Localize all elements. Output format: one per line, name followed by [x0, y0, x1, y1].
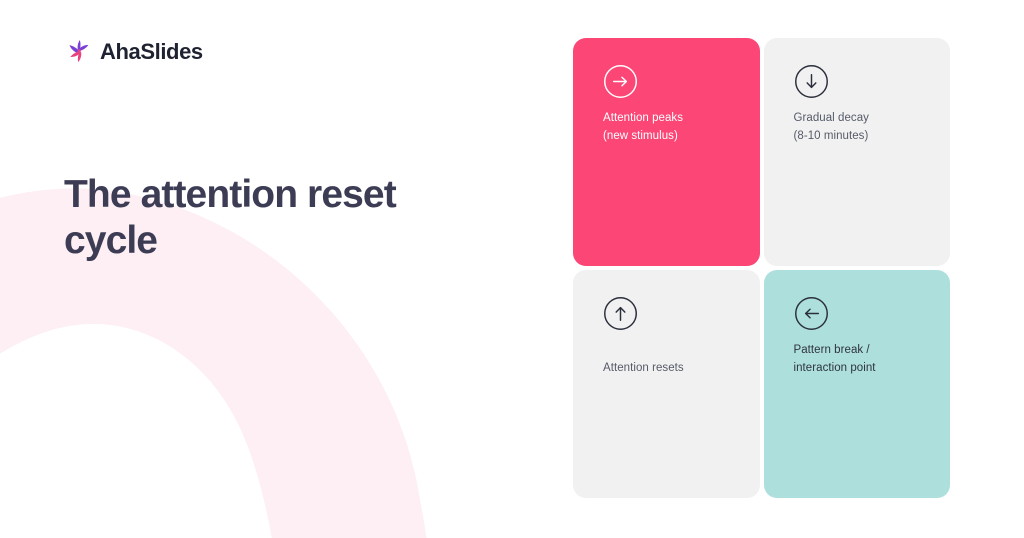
card-label: Gradual decay (8-10 minutes) — [794, 110, 921, 240]
arrow-left-circle-icon — [794, 296, 829, 331]
card-label: Attention resets — [603, 360, 730, 472]
brand-logo[interactable]: AhaSlides — [66, 38, 203, 65]
brand-name: AhaSlides — [100, 41, 203, 63]
card-attention-resets[interactable]: Attention resets — [573, 270, 760, 498]
page-title: The attention reset cycle — [64, 172, 484, 264]
arrow-right-circle-icon — [603, 64, 638, 99]
arrow-up-circle-icon — [603, 296, 638, 331]
card-attention-peaks[interactable]: Attention peaks (new stimulus) — [573, 38, 760, 266]
card-gradual-decay[interactable]: Gradual decay (8-10 minutes) — [764, 38, 951, 266]
aha-starburst-icon — [66, 38, 93, 65]
card-label: Pattern break / interaction point — [794, 342, 921, 472]
card-pattern-break[interactable]: Pattern break / interaction point — [764, 270, 951, 498]
arrow-down-circle-icon — [794, 64, 829, 99]
attention-cycle-grid: Attention peaks (new stimulus) Gradual d… — [573, 38, 950, 498]
card-label: Attention peaks (new stimulus) — [603, 110, 730, 240]
slide-canvas: AhaSlides The attention reset cycle Atte… — [0, 0, 1024, 538]
